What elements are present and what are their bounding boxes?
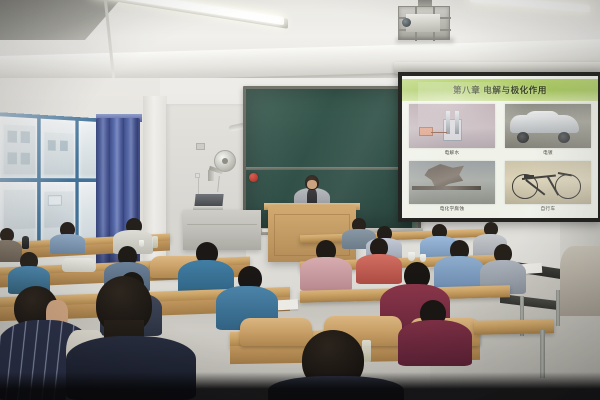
wall-mounted-fan (208, 150, 238, 184)
audience-body (0, 240, 22, 262)
outdoor-ac-unit (48, 195, 62, 206)
corroded-structure-image (409, 161, 495, 205)
slide-caption: 电化学腐蚀 (409, 204, 495, 213)
slide-caption: 电解水 (409, 148, 495, 157)
water-bottle (152, 236, 158, 248)
paper-cup (408, 252, 415, 261)
electroplated-car-image (505, 104, 591, 148)
electrolysis-apparatus-image (409, 104, 495, 148)
slide-caption: 自行车 (505, 204, 591, 213)
av-control-console (183, 210, 261, 250)
paper-cup (139, 240, 144, 247)
slide-cell-electroplating: 电镀 (505, 104, 591, 157)
projection-screen: 第八章 电解与极化作用 电解水 (402, 76, 598, 218)
projector-lens (402, 18, 411, 27)
slide-title: 第八章 电解与极化作用 (453, 84, 547, 96)
audience-body-red (356, 254, 402, 284)
audience-body-maroon-front (398, 320, 472, 366)
bicycle-image (505, 161, 591, 205)
desk-leg (540, 330, 545, 378)
slide-cell-electrolysis: 电解水 (409, 104, 495, 157)
audience-body-pink (300, 257, 352, 291)
slide-cell-bicycle: 自行车 (505, 161, 591, 214)
slide-caption: 电镀 (505, 148, 591, 157)
bag-on-desk (62, 258, 96, 272)
classroom-lecture-photo: 第八章 电解与极化作用 电解水 (0, 0, 600, 400)
paper-cup (420, 254, 426, 262)
projection-screen-frame: 第八章 电解与极化作用 电解水 (398, 72, 600, 222)
wall-speaker-box (196, 143, 205, 150)
slide-cell-corrosion: 电化学腐蚀 (409, 161, 495, 214)
slide-image-grid: 电解水 电镀 (409, 104, 591, 213)
seat-back (240, 318, 312, 346)
ceiling-projector (398, 6, 450, 40)
slide-title-bar: 第八章 电解与极化作用 (402, 79, 598, 101)
lecture-slide: 第八章 电解与极化作用 电解水 (402, 76, 598, 218)
chalkboard-marker-dot (249, 173, 258, 182)
water-bottle (22, 236, 29, 249)
audience-body (50, 234, 85, 254)
presenter-face (307, 180, 317, 189)
audience-body (434, 256, 484, 290)
foreground-shadow (0, 372, 600, 400)
audience-body-right-edge (560, 246, 600, 316)
